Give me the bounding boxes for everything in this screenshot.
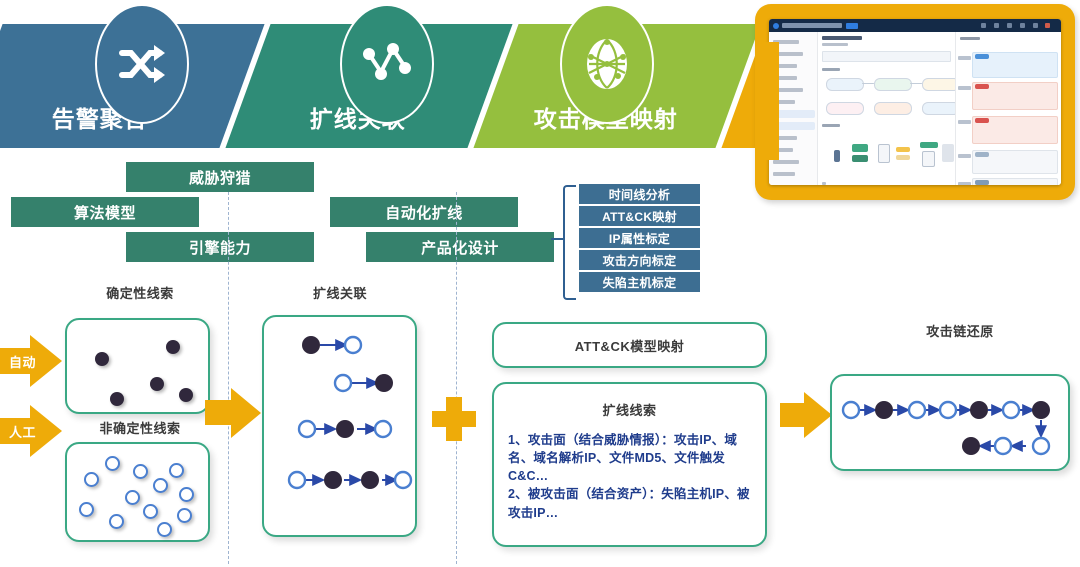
list-item[interactable]: IP属性标定 xyxy=(578,227,701,249)
timestamp xyxy=(958,56,971,60)
network-path-icon xyxy=(340,4,434,124)
clue-dot xyxy=(169,463,184,478)
page-heading xyxy=(822,36,862,40)
sidebar-item[interactable] xyxy=(773,64,797,68)
panel-attack-chain-restore xyxy=(830,374,1070,471)
topology-node xyxy=(920,142,938,148)
tag-algorithm-model[interactable]: 算法模型 xyxy=(11,197,199,227)
sidebar-item[interactable] xyxy=(777,76,797,80)
attack-chain-graph xyxy=(832,376,1068,469)
arrow-automatic: 自动 xyxy=(0,335,62,387)
topology-device xyxy=(942,144,954,162)
clue-dot xyxy=(179,487,194,502)
product-screenshot-frame xyxy=(755,4,1075,200)
clue-dot xyxy=(105,456,120,471)
tag-productization-design[interactable]: 产品化设计 xyxy=(366,232,554,262)
sidebar-item[interactable] xyxy=(773,100,795,104)
filter-bar[interactable] xyxy=(822,51,951,62)
clue-dot xyxy=(79,502,94,517)
tag-label: 自动化扩线 xyxy=(385,202,463,223)
panel-expansion-correlation xyxy=(262,315,417,537)
legend-item xyxy=(822,182,826,185)
alert-severity-badge xyxy=(975,118,989,123)
sidebar-item[interactable] xyxy=(773,148,793,152)
column-divider xyxy=(456,192,457,564)
topology-device xyxy=(878,144,890,163)
column-divider xyxy=(228,192,229,564)
alert-severity-badge xyxy=(975,180,989,185)
panel-title-deterministic: 确定性线索 xyxy=(65,283,215,302)
clue-dot xyxy=(166,340,180,354)
topology-node xyxy=(896,147,910,152)
list-item[interactable]: ATT&CK映射 xyxy=(578,205,701,227)
arrow-label: 人工 xyxy=(9,422,36,441)
sidebar-item[interactable] xyxy=(777,88,803,92)
shuffle-icon xyxy=(95,4,189,124)
card-attack-model-mapping[interactable]: ATT&CK模型映射 xyxy=(492,322,767,368)
plus-icon xyxy=(432,397,476,441)
timestamp xyxy=(958,182,971,185)
clue-dot xyxy=(153,478,168,493)
alert-severity-badge xyxy=(975,54,989,59)
flow-connector xyxy=(862,83,874,84)
clue-dot xyxy=(157,522,172,537)
list-item-label: 失陷主机标定 xyxy=(603,274,677,291)
expansion-chain-graph xyxy=(264,317,415,535)
alert-severity-badge xyxy=(975,152,989,157)
clue-dot xyxy=(179,388,193,402)
topology-node xyxy=(852,144,868,152)
timestamp xyxy=(958,154,971,158)
clue-dot xyxy=(150,377,164,391)
clue-dot xyxy=(177,508,192,523)
sidebar-item-active[interactable] xyxy=(771,110,815,118)
screenshot-sidebar xyxy=(769,32,818,185)
toolbar-icon xyxy=(994,23,999,28)
analysis-capability-list: 时间线分析 ATT&CK映射 IP属性标定 攻击方向标定 失陷主机标定 xyxy=(578,183,701,293)
list-item-label: ATT&CK映射 xyxy=(602,208,677,225)
topology-node xyxy=(852,155,868,162)
slide-canvas: 告警聚合 扩线关联 攻击模型映射 xyxy=(0,0,1080,567)
toolbar-icon xyxy=(1007,23,1012,28)
sidebar-item-active[interactable] xyxy=(771,122,815,130)
panel-deterministic-clues xyxy=(65,318,210,414)
app-badge xyxy=(846,23,858,29)
sidebar-item[interactable] xyxy=(773,40,799,44)
sidebar-item[interactable] xyxy=(773,172,795,176)
screenshot-alert-list xyxy=(955,32,1061,185)
app-logo-icon xyxy=(773,23,779,29)
flow-node[interactable] xyxy=(826,78,864,91)
list-item-label: 时间线分析 xyxy=(609,186,671,203)
list-item[interactable]: 时间线分析 xyxy=(578,183,701,205)
list-item[interactable]: 攻击方向标定 xyxy=(578,249,701,271)
graph-globe-icon xyxy=(560,4,654,124)
tag-label: 产品化设计 xyxy=(421,237,499,258)
list-item-label: IP属性标定 xyxy=(609,230,670,247)
section-label xyxy=(822,68,840,71)
panel-nondeterministic-clues xyxy=(65,442,210,542)
alert-severity-badge xyxy=(975,84,989,89)
flow-connector xyxy=(910,83,922,84)
clue-dot xyxy=(110,392,124,406)
product-dashboard-screenshot[interactable] xyxy=(769,19,1061,185)
list-item[interactable]: 失陷主机标定 xyxy=(578,271,701,293)
arrow-to-expansion xyxy=(205,388,263,438)
topology-actor-icon xyxy=(834,150,840,162)
timestamp xyxy=(958,86,971,90)
alert-icon xyxy=(1045,23,1050,28)
page-subheading xyxy=(822,43,848,46)
tag-label: 引擎能力 xyxy=(189,237,251,258)
clue-dot xyxy=(133,464,148,479)
sidebar-item[interactable] xyxy=(773,52,803,56)
list-bracket xyxy=(563,185,576,300)
panel-title-expansion: 扩线关联 xyxy=(255,283,425,302)
list-item-label: 攻击方向标定 xyxy=(603,252,677,269)
clue-line: 1、攻击面（结合威胁情报）：攻击IP、域名、域名解析IP、文件MD5、文件触发C… xyxy=(508,431,751,485)
card-expansion-clues[interactable]: 扩线线索 1、攻击面（结合威胁情报）：攻击IP、域名、域名解析IP、文件MD5、… xyxy=(492,382,767,547)
arrow-manual: 人工 xyxy=(0,405,62,457)
list-heading xyxy=(960,37,980,40)
card-title: 扩线线索 xyxy=(508,400,751,419)
clue-dot xyxy=(95,352,109,366)
tag-label: 算法模型 xyxy=(74,202,136,223)
panel-title-attack-chain: 攻击链还原 xyxy=(880,321,1040,340)
tag-threat-hunting[interactable]: 威胁狩猎 xyxy=(126,162,314,192)
toolbar-icon xyxy=(1020,23,1025,28)
sidebar-item[interactable] xyxy=(773,136,797,140)
tag-engine-capability[interactable]: 引擎能力 xyxy=(126,232,314,262)
topology-device xyxy=(922,151,935,167)
flow-node[interactable] xyxy=(874,102,912,115)
clue-dot xyxy=(109,514,124,529)
toolbar-icon xyxy=(981,23,986,28)
panel-title-nondeterministic: 非确定性线索 xyxy=(65,418,215,437)
flow-node[interactable] xyxy=(874,78,912,91)
clue-dot xyxy=(84,472,99,487)
clue-dot xyxy=(143,504,158,519)
app-title-text xyxy=(782,23,842,28)
arrow-label: 自动 xyxy=(9,352,36,371)
tag-label: 威胁狩猎 xyxy=(189,167,251,188)
list-bracket-stub xyxy=(551,238,565,240)
flow-node[interactable] xyxy=(826,102,864,115)
topology-node xyxy=(896,155,910,160)
clue-line: 2、被攻击面（结合资产）：失陷主机IP、被攻击IP… xyxy=(508,485,751,521)
tag-automated-expansion[interactable]: 自动化扩线 xyxy=(330,197,518,227)
screenshot-main-panel xyxy=(818,32,955,185)
card-title: ATT&CK模型映射 xyxy=(575,336,684,355)
clue-dot xyxy=(125,490,140,505)
arrow-to-result xyxy=(780,392,834,438)
timestamp xyxy=(958,120,971,124)
toolbar-icon xyxy=(1033,23,1038,28)
section-label xyxy=(822,124,840,127)
sidebar-item[interactable] xyxy=(773,160,799,164)
